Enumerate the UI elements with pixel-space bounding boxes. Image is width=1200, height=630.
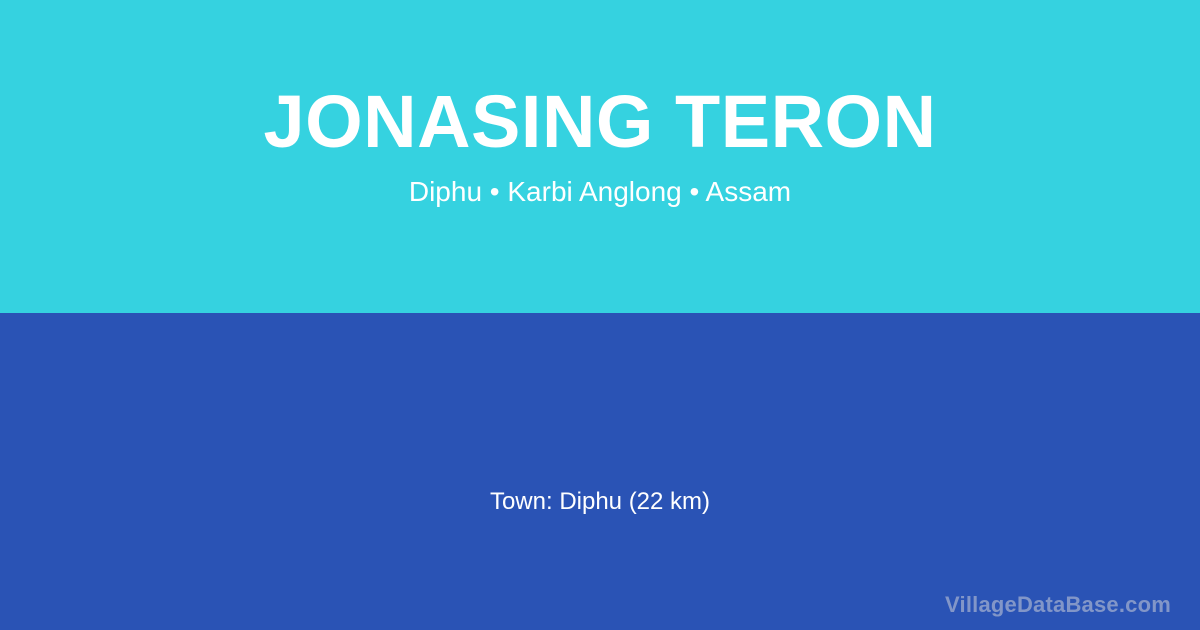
details-band: Town: Diphu (22 km) VillageDataBase.com	[0, 313, 1200, 630]
site-watermark: VillageDataBase.com	[945, 592, 1171, 618]
village-info-banner: JONASING TERON Diphu • Karbi Anglong • A…	[0, 0, 1200, 630]
location-breadcrumb: Diphu • Karbi Anglong • Assam	[409, 175, 791, 209]
page-title: JONASING TERON	[263, 84, 936, 159]
hero-band: JONASING TERON Diphu • Karbi Anglong • A…	[0, 0, 1200, 313]
nearest-town-info: Town: Diphu (22 km)	[0, 487, 1200, 517]
